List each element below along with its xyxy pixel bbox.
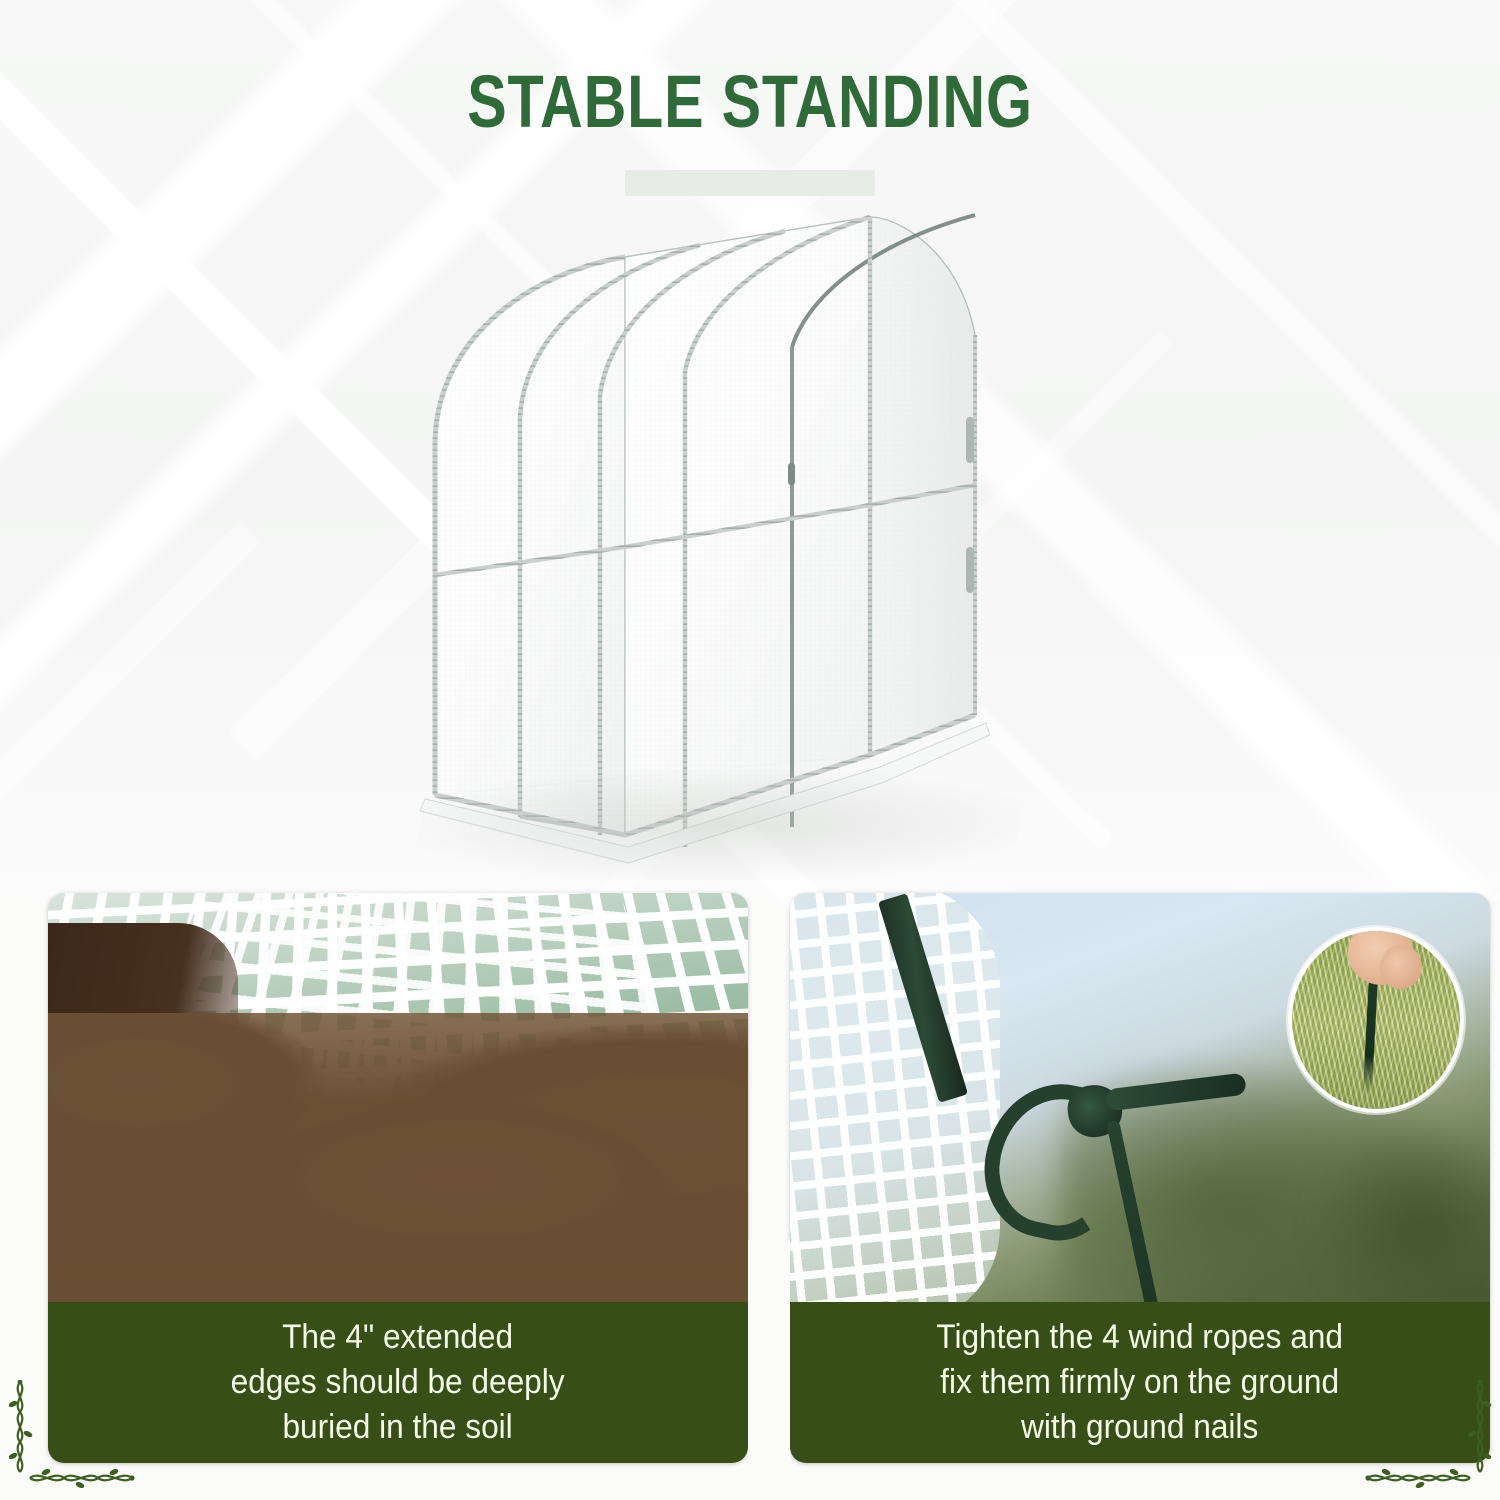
hand-finger	[1380, 945, 1422, 989]
caption-line: Tighten the 4 wind ropes and	[937, 1315, 1344, 1360]
caption-line: fix them firmly on the ground	[937, 1360, 1344, 1405]
greenhouse-roll-up-tie	[966, 547, 974, 593]
ground-nail-in-grass-inset	[1288, 927, 1464, 1113]
title-underline-bar	[625, 170, 875, 196]
greenhouse-zipper-pull	[788, 463, 795, 485]
soil-mound	[48, 1013, 748, 1305]
greenhouse-edge-buried-in-soil-photo	[48, 893, 748, 1305]
page-title: STABLE STANDING	[150, 62, 1350, 142]
caption-line: buried in the soil	[231, 1405, 565, 1450]
caption-text: Tighten the 4 wind ropes and fix them fi…	[937, 1315, 1344, 1450]
blurred-foliage	[1310, 1123, 1490, 1305]
vine-flourish-ornament-right	[1362, 1380, 1494, 1488]
caption-text: The 4" extended edges should be deeply b…	[231, 1315, 565, 1450]
product-ground-shadow	[408, 770, 1031, 880]
feature-card-wind-ropes: Tighten the 4 wind ropes and fix them fi…	[790, 893, 1490, 1463]
infographic-page: STABLE STANDING	[0, 0, 1500, 1500]
soil-photo-backdrop	[48, 893, 748, 1305]
greenhouse-roll-up-tie	[966, 417, 974, 463]
caption-line: with ground nails	[937, 1405, 1344, 1450]
feature-caption-buried-edges: The 4" extended edges should be deeply b…	[48, 1302, 748, 1463]
product-image-greenhouse	[400, 195, 1040, 885]
feature-card-buried-edges: The 4" extended edges should be deeply b…	[48, 893, 748, 1463]
panel-divider-gap	[748, 1240, 790, 1480]
wind-rope-tied-to-greenhouse-photo	[790, 893, 1490, 1305]
caption-line: The 4" extended	[231, 1315, 565, 1360]
caption-line: edges should be deeply	[231, 1360, 565, 1405]
vine-flourish-ornament-left	[6, 1380, 138, 1488]
rope-photo-backdrop	[790, 893, 1490, 1305]
